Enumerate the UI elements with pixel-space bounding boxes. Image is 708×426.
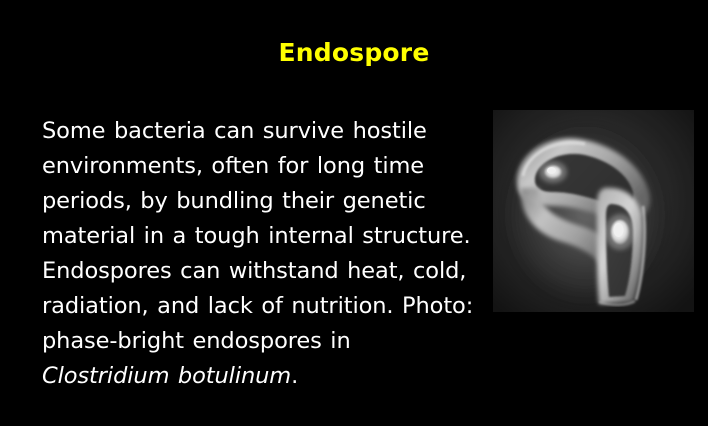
body-text-main: Some bacteria can survive hostile enviro…	[42, 118, 473, 354]
slide-body-text: Some bacteria can survive hostile enviro…	[42, 114, 482, 394]
page-title: Endospore	[0, 38, 708, 68]
endospore-micrograph	[493, 110, 694, 312]
slide-root: Endospore Some bacteria can survive host…	[0, 0, 708, 426]
species-name: Clostridium botulinum	[42, 363, 291, 389]
micrograph-image	[493, 110, 694, 312]
body-text-trailing: .	[291, 363, 298, 389]
